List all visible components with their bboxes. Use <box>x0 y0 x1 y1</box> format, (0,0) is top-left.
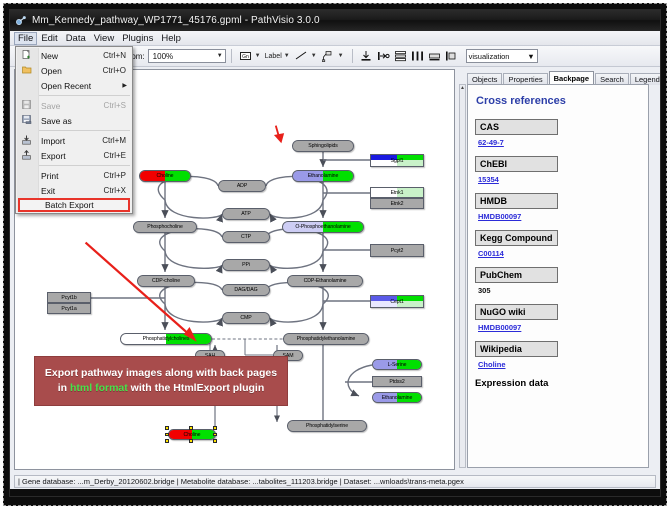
node-label: Pcyt2 <box>391 248 403 254</box>
node-label: CMP <box>240 315 251 321</box>
file-menu-item-export[interactable]: ExportCtrl+E <box>16 148 132 163</box>
file-menu-item-label: Export <box>37 151 104 161</box>
node-label: Etnk2 <box>391 201 404 207</box>
node-label: L-Serine <box>388 362 407 368</box>
cross-references-title: Cross references <box>476 95 641 107</box>
file-menu-item-save-as[interactable]: Save as <box>16 113 132 128</box>
menu-edit[interactable]: Edit <box>37 32 61 45</box>
zoom-combo[interactable]: 100% ▼ <box>148 49 226 63</box>
file-menu-item-print[interactable]: PrintCtrl+P <box>16 168 132 183</box>
metabolite-node[interactable]: CTP <box>222 231 270 243</box>
gene-node[interactable]: Etnk2 <box>370 198 424 209</box>
xref-value-chebi[interactable]: 15354 <box>478 175 641 184</box>
gene-node[interactable]: Sgpl1 <box>370 154 424 167</box>
xref-link-chebi[interactable]: 15354 <box>478 175 499 184</box>
scroll-up-icon[interactable]: ▲ <box>460 85 465 91</box>
toolbar-separator-2 <box>352 49 353 63</box>
file-menu-separator <box>39 95 130 96</box>
gene-node[interactable]: Pcyt1a <box>47 303 91 314</box>
node-label: Choline <box>157 173 174 179</box>
xref-value-nugo[interactable]: HMDB00097 <box>478 323 641 332</box>
file-menu-item-open[interactable]: OpenCtrl+O <box>16 63 132 78</box>
visualization-value: visualization <box>469 52 510 61</box>
node-label: Phosphatidylserine <box>306 423 348 429</box>
visualization-combo[interactable]: visualization ▼ <box>466 49 538 63</box>
chevron-down-icon: ▼ <box>217 53 223 59</box>
metabolite-node[interactable]: ATP <box>222 208 270 220</box>
node-label: CDP-Ethanolamine <box>304 278 347 284</box>
xref-db-wikipedia: Wikipedia <box>475 341 558 357</box>
window-bottom-edge <box>10 489 660 496</box>
metabolite-node[interactable]: DAG/DAG <box>222 284 270 296</box>
tab-backpage[interactable]: Backpage <box>549 71 594 85</box>
annotation-highlight: html format <box>70 382 128 394</box>
side-panel-scrollbar[interactable]: ▲ <box>459 84 466 468</box>
gene-node[interactable]: Etnk1 <box>370 187 424 198</box>
side-panel: ▲ Objects Properties Backpage Search Leg… <box>459 69 657 470</box>
metabolite-node[interactable]: Sphingolipids <box>292 140 354 152</box>
metabolite-node[interactable]: Choline <box>139 170 191 182</box>
xref-db-hmdb: HMDB <box>475 193 558 209</box>
xref-link-hmdb[interactable]: HMDB00097 <box>478 212 521 221</box>
node-label: Phosphatidylcholines <box>143 336 190 342</box>
screenshot-root: Mm_Kennedy_pathway_WP1771_45176.gpml - P… <box>0 0 670 509</box>
save-as-icon <box>16 115 37 126</box>
file-menu-item-label: Open Recent <box>37 81 122 91</box>
file-menu-item-batch-export[interactable]: Batch Export <box>18 198 130 212</box>
file-menu-item-label: New <box>37 51 103 61</box>
file-menu-item-new[interactable]: NewCtrl+N <box>16 48 132 63</box>
node-label: Pcyt1a <box>61 306 76 312</box>
file-menu-item-accelerator: Ctrl+M <box>102 136 132 145</box>
label-dropdown-icon[interactable]: ▼ <box>284 53 290 59</box>
chevron-down-icon-2: ▼ <box>527 52 534 61</box>
metabolite-node[interactable]: CDP-choline <box>137 275 195 287</box>
file-menu-item-accelerator: Ctrl+X <box>104 186 132 195</box>
menu-plugins[interactable]: Plugins <box>118 32 157 45</box>
node-label: CDP-choline <box>152 278 180 284</box>
file-menu-item-import[interactable]: ImportCtrl+M <box>16 133 132 148</box>
status-text: | Gene database: ...m_Derby_20120602.bri… <box>14 475 656 488</box>
pathvisio-window: Mm_Kennedy_pathway_WP1771_45176.gpml - P… <box>9 9 661 497</box>
new-file-icon <box>16 50 37 61</box>
xref-value-kegg[interactable]: C00114 <box>478 249 641 258</box>
metabolite-node[interactable]: Ethanolamine <box>292 170 354 182</box>
menu-file[interactable]: File <box>14 32 37 45</box>
menu-view[interactable]: View <box>90 32 118 45</box>
gene-product-dropdown-icon[interactable]: ▼ <box>255 53 261 59</box>
menu-help[interactable]: Help <box>157 32 185 45</box>
menu-data[interactable]: Data <box>62 32 90 45</box>
import-icon <box>16 135 37 147</box>
metabolite-node[interactable]: PPi <box>222 259 270 271</box>
metabolite-node[interactable]: Phosphatidylethanolamine <box>283 333 369 345</box>
window-title: Mm_Kennedy_pathway_WP1771_45176.gpml - P… <box>32 15 320 26</box>
file-menu-item-accelerator: Ctrl+S <box>104 101 132 110</box>
open-folder-icon <box>16 65 37 76</box>
node-label: Phosphatidylethanolamine <box>297 336 355 342</box>
common-width-button[interactable] <box>427 48 442 64</box>
gene-node[interactable]: Ptdss2 <box>372 376 422 387</box>
xref-link-wikipedia[interactable]: Choline <box>478 360 506 369</box>
file-menu-item-label: Print <box>37 171 104 181</box>
node-label: ATP <box>241 211 250 217</box>
file-menu-item-accelerator: Ctrl+P <box>104 171 132 180</box>
node-label: Pcyt1b <box>61 295 76 301</box>
gene-node[interactable]: Pcyt1b <box>47 292 91 303</box>
metabolite-node[interactable]: ADP <box>218 180 266 192</box>
xref-value-hmdb[interactable]: HMDB00097 <box>478 212 641 221</box>
align-stack-button[interactable] <box>393 48 408 64</box>
xref-db-pubchem: PubChem <box>475 267 558 283</box>
align-left-button[interactable] <box>376 48 391 64</box>
metabolite-node[interactable]: Ethanolamine <box>372 392 422 403</box>
metabolite-node[interactable]: Phosphatidylcholines <box>120 333 212 345</box>
gene-product-button[interactable]: Gn <box>238 48 253 64</box>
status-bar: | Gene database: ...m_Derby_20120602.bri… <box>10 474 660 496</box>
common-height-button[interactable] <box>444 48 459 64</box>
file-menu-separator <box>39 130 130 131</box>
file-menu-item-accelerator: Ctrl+E <box>104 151 132 160</box>
pathvisio-icon <box>15 15 27 27</box>
label-button[interactable]: Label <box>265 48 282 64</box>
file-menu-item-label: Exit <box>37 186 104 196</box>
xref-db-kegg: Kegg Compound <box>475 230 558 246</box>
file-menu-item-save: SaveCtrl+S <box>16 98 132 113</box>
node-label: O-Phosphoethanolamine <box>295 224 350 230</box>
node-label: Ethanolamine <box>308 173 339 179</box>
node-label: ADP <box>237 183 247 189</box>
node-label: CTP <box>241 234 251 240</box>
gene-node[interactable]: Pcyt2 <box>370 244 424 257</box>
title-bar: Mm_Kennedy_pathway_WP1771_45176.gpml - P… <box>10 10 660 31</box>
node-label: Cept1 <box>390 299 403 305</box>
xref-link-nugo[interactable]: HMDB00097 <box>478 323 521 332</box>
side-panel-tabs: Objects Properties Backpage Search Legen… <box>467 71 657 85</box>
xref-value-wikipedia[interactable]: Choline <box>478 360 641 369</box>
node-label: PPi <box>242 262 250 268</box>
metabolite-node[interactable]: L-Serine <box>372 359 422 370</box>
file-menu-dropdown[interactable]: NewCtrl+NOpenCtrl+OOpen Recent▶SaveCtrl+… <box>15 46 133 214</box>
export-icon <box>16 150 37 162</box>
annotation-text-after: with the HtmlExport plugin <box>128 382 265 394</box>
svg-text:Gn: Gn <box>242 54 249 60</box>
file-menu-item-label: Import <box>37 136 102 146</box>
file-menu-item-label: Save <box>37 101 104 111</box>
metabolite-node[interactable]: CDP-Ethanolamine <box>287 275 363 287</box>
file-menu-separator <box>39 165 130 166</box>
xref-db-cas: CAS <box>475 119 558 135</box>
metabolite-node[interactable]: Phosphatidylserine <box>287 420 367 432</box>
save-disk-icon <box>16 100 37 111</box>
metabolite-node[interactable]: O-Phosphoethanolamine <box>282 221 364 233</box>
toolbar-separator <box>231 49 232 63</box>
line-button[interactable] <box>294 48 309 64</box>
file-menu-item-exit[interactable]: ExitCtrl+X <box>16 183 132 198</box>
menu-bar: File Edit Data View Plugins Help <box>10 31 660 46</box>
xref-db-nugo: NuGO wiki <box>475 304 558 320</box>
gene-node[interactable]: Cept1 <box>370 295 424 308</box>
node-label: Phosphocholine <box>147 224 183 230</box>
file-menu-item-accelerator: Ctrl+N <box>103 51 132 60</box>
interaction-button[interactable] <box>321 48 336 64</box>
xref-value-pubchem: 305 <box>478 286 641 295</box>
line-dropdown-icon[interactable]: ▼ <box>311 53 317 59</box>
file-menu-item-label: Open <box>37 66 103 76</box>
file-menu-item-label: Batch Export <box>41 200 122 210</box>
node-label: Ptdss2 <box>389 379 404 385</box>
backpage-content: Cross references CAS 62-49-7 ChEBI 15354… <box>467 84 649 468</box>
metabolite-node[interactable]: Phosphocholine <box>133 221 197 233</box>
xref-link-kegg[interactable]: C00114 <box>478 249 504 258</box>
node-label: Sphingolipids <box>308 143 338 149</box>
align-top-button[interactable] <box>359 48 374 64</box>
node-label: DAG/DAG <box>234 287 257 293</box>
node-label: Etnk1 <box>391 190 404 196</box>
file-menu-item-accelerator: Ctrl+O <box>103 66 132 75</box>
node-label: Choline <box>184 432 201 438</box>
annotation-callout: Export pathway images along with back pa… <box>34 356 288 406</box>
metabolite-node[interactable]: CMP <box>222 312 270 324</box>
submenu-arrow-icon: ▶ <box>122 82 132 89</box>
distribute-button[interactable] <box>410 48 425 64</box>
xref-link-cas[interactable]: 62-49-7 <box>478 138 504 147</box>
expression-data-title: Expression data <box>475 378 641 389</box>
xref-value-cas[interactable]: 62-49-7 <box>478 138 641 147</box>
node-label: Sgpl1 <box>391 158 404 164</box>
interaction-dropdown-icon[interactable]: ▼ <box>338 53 344 59</box>
zoom-value: 100% <box>151 52 173 61</box>
node-label: Ethanolamine <box>382 395 413 401</box>
xref-db-chebi: ChEBI <box>475 156 558 172</box>
file-menu-item-open-recent[interactable]: Open Recent▶ <box>16 78 132 93</box>
file-menu-item-label: Save as <box>37 116 126 126</box>
